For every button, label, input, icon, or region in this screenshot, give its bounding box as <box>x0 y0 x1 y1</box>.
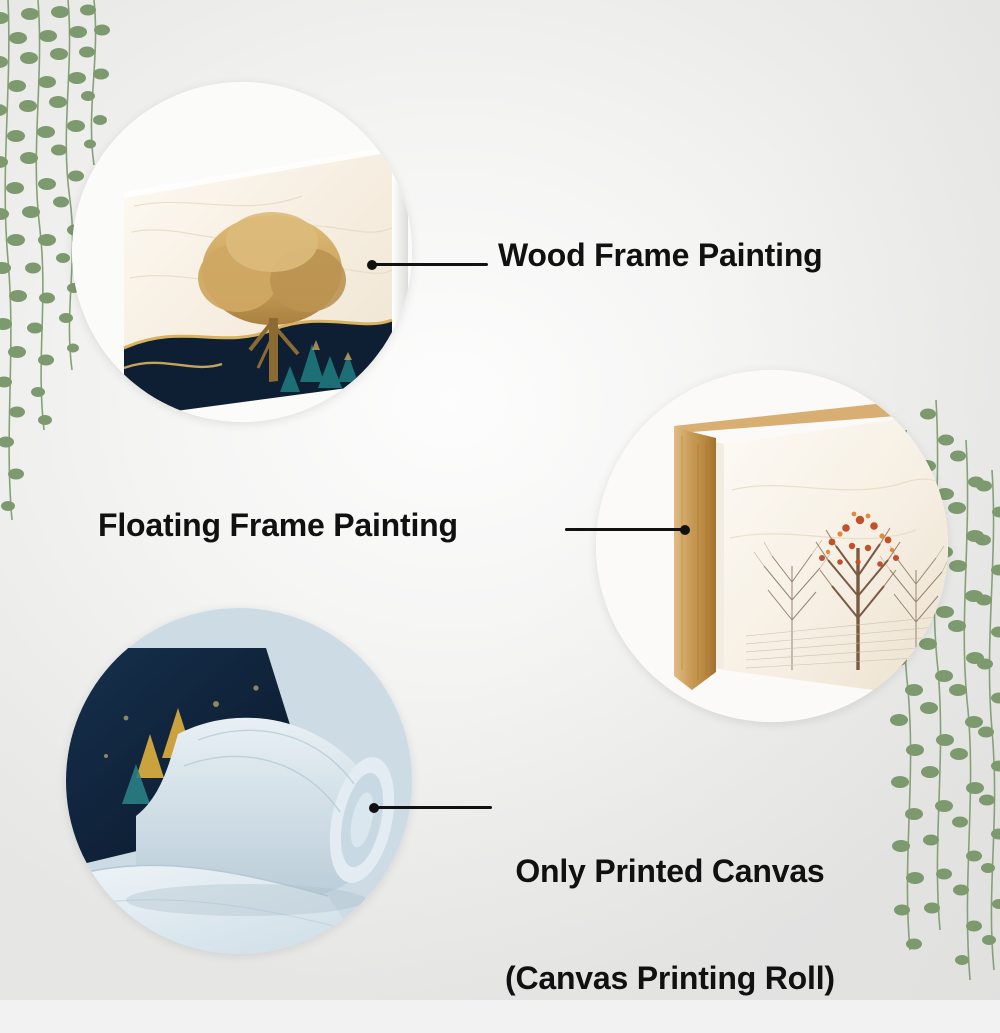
callout-photo-canvas-roll <box>66 608 412 954</box>
label-canvas-roll: Only Printed Canvas (Canvas Printing Rol… <box>505 782 835 1033</box>
leader-line-wood-frame <box>370 263 488 266</box>
label-canvas-line2: (Canvas Printing Roll) <box>505 961 835 997</box>
label-floating-frame-painting: Floating Frame Painting <box>98 508 458 544</box>
floating-frame-painting-image <box>596 370 948 722</box>
canvas-roll-image <box>66 608 412 954</box>
label-canvas-line1: Only Printed Canvas <box>505 854 835 890</box>
leader-dot <box>680 525 690 535</box>
wood-frame-painting-image <box>72 82 412 422</box>
leader-line-canvas-roll <box>372 806 492 809</box>
callout-photo-floating-frame <box>596 370 948 722</box>
label-wood-frame-painting: Wood Frame Painting <box>498 238 823 274</box>
leader-dot <box>369 803 379 813</box>
callout-photo-wood-frame <box>72 82 412 422</box>
leader-line-floating-frame <box>565 528 687 531</box>
leader-dot <box>367 260 377 270</box>
